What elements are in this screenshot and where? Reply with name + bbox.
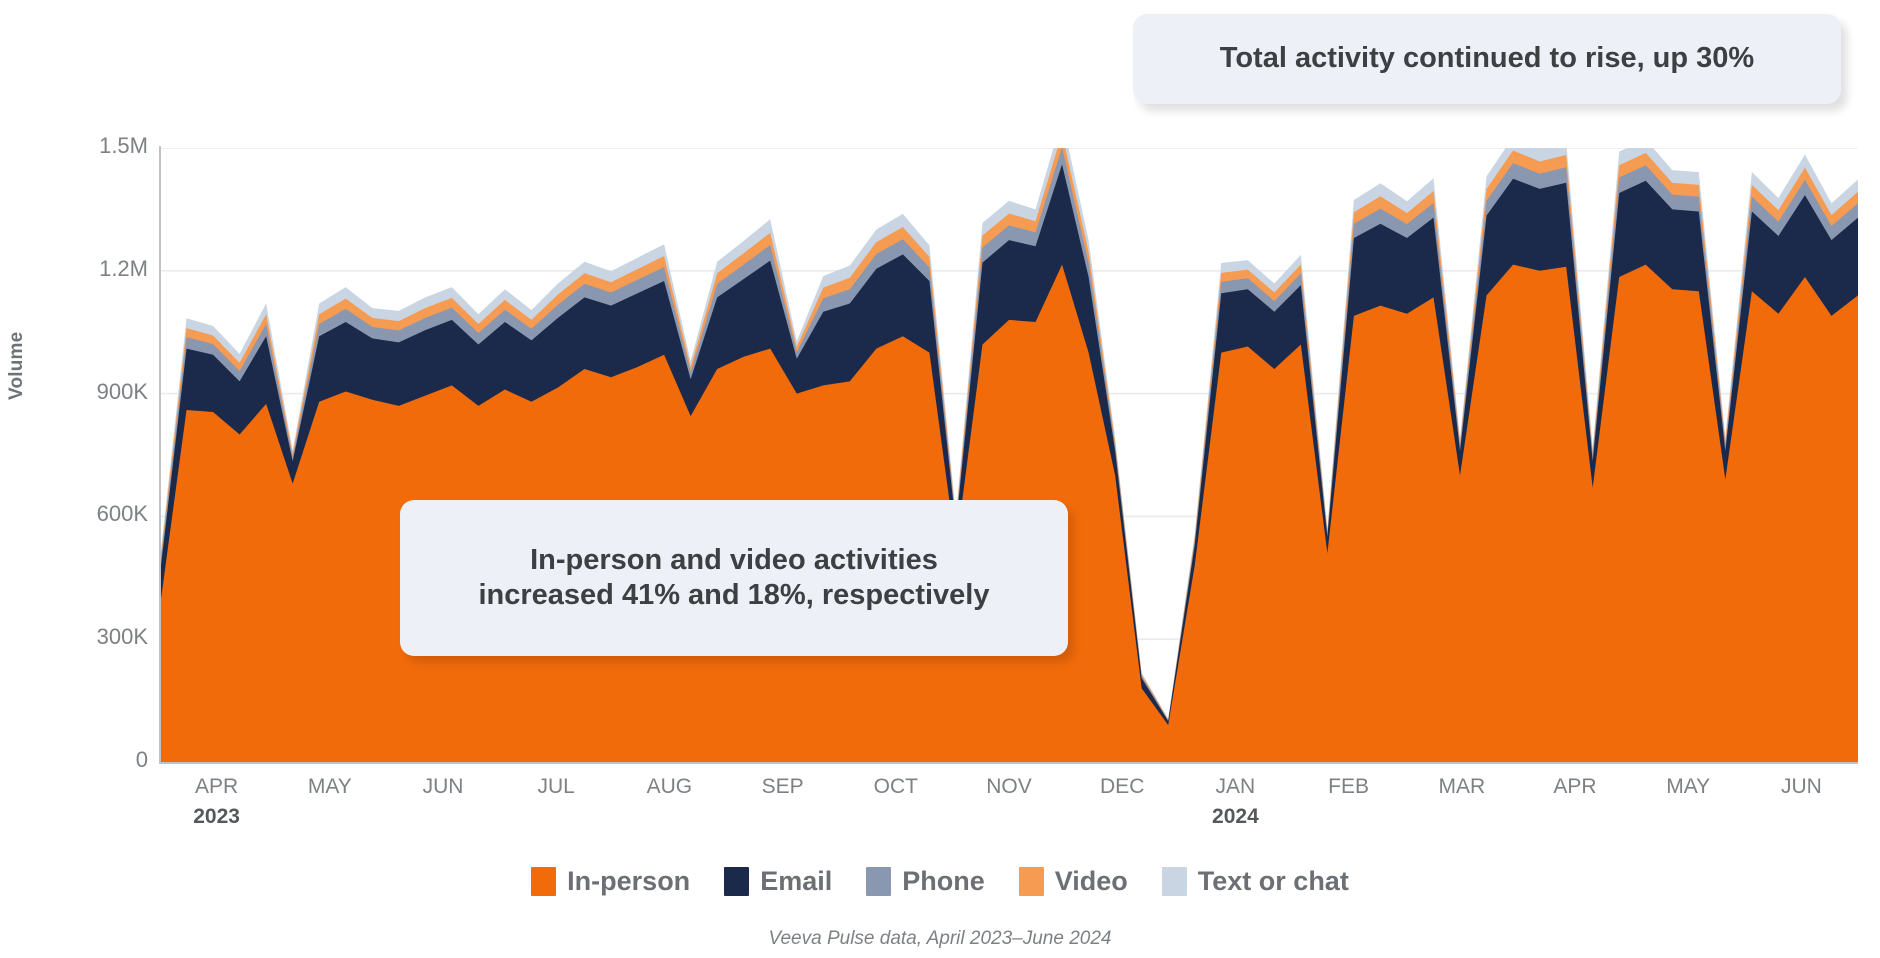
callout-total-activity-text: Total activity continued to rise, up 30% xyxy=(1220,41,1754,76)
legend-label: Video xyxy=(1055,866,1128,897)
x-axis-month-label: AUG xyxy=(647,775,693,799)
chart-legend: In-personEmailPhoneVideoText or chat xyxy=(0,866,1880,897)
callout-inperson-video-text: In-person and video activities increased… xyxy=(478,543,989,614)
x-axis-month-label: FEB xyxy=(1328,775,1369,799)
y-axis-title: Volume xyxy=(6,332,28,400)
x-axis-month-label: JUN xyxy=(423,775,464,799)
x-axis-month-label: JUN xyxy=(1781,775,1822,799)
y-axis-tick-label: 1.2M xyxy=(48,256,148,282)
x-axis-month-label: DEC xyxy=(1100,775,1144,799)
x-axis-month-label: JAN xyxy=(1216,775,1256,799)
legend-item-video[interactable]: Video xyxy=(1019,866,1128,897)
legend-item-email[interactable]: Email xyxy=(724,866,832,897)
legend-swatch-icon xyxy=(1162,867,1187,896)
legend-item-text-or-chat[interactable]: Text or chat xyxy=(1162,866,1349,897)
y-axis-line xyxy=(159,146,161,764)
x-axis-month-label: APR xyxy=(195,775,238,799)
y-axis-tick-label: 1.5M xyxy=(48,133,148,159)
legend-label: Email xyxy=(760,866,832,897)
legend-item-in-person[interactable]: In-person xyxy=(531,866,690,897)
legend-swatch-icon xyxy=(531,867,556,896)
callout-line-1: In-person and video activities xyxy=(478,543,989,578)
legend-label: Phone xyxy=(902,866,985,897)
legend-swatch-icon xyxy=(724,867,749,896)
chart-canvas: Volume 0300K600K900K1.2M1.5M APR2023MAYJ… xyxy=(0,0,1880,958)
x-axis-month-label: MAY xyxy=(1666,775,1710,799)
legend-swatch-icon xyxy=(1019,867,1044,896)
callout-inperson-video: In-person and video activities increased… xyxy=(400,500,1068,656)
x-axis-year-label: 2023 xyxy=(193,805,240,829)
y-axis-tick-label: 600K xyxy=(48,501,148,527)
legend-swatch-icon xyxy=(866,867,891,896)
x-axis-month-label: NOV xyxy=(986,775,1032,799)
stacked-area-chart xyxy=(160,148,1858,762)
chart-source-note: Veeva Pulse data, April 2023–June 2024 xyxy=(0,928,1880,950)
callout-total-activity: Total activity continued to rise, up 30% xyxy=(1133,14,1841,104)
x-axis-ticks: APR2023MAYJUNJULAUGSEPOCTNOVDECJAN2024FE… xyxy=(160,775,1858,845)
x-axis-line xyxy=(159,762,1858,764)
x-axis-month-label: SEP xyxy=(762,775,804,799)
y-axis-tick-label: 300K xyxy=(48,624,148,650)
plot-area xyxy=(160,148,1858,762)
x-axis-month-label: OCT xyxy=(874,775,918,799)
x-axis-month-label: APR xyxy=(1553,775,1596,799)
y-axis-tick-label: 0 xyxy=(48,747,148,773)
y-axis-ticks: 0300K600K900K1.2M1.5M xyxy=(40,0,148,958)
callout-line-2: increased 41% and 18%, respectively xyxy=(478,578,989,613)
legend-label: In-person xyxy=(567,866,690,897)
x-axis-month-label: JUL xyxy=(538,775,575,799)
legend-label: Text or chat xyxy=(1198,866,1349,897)
x-axis-year-label: 2024 xyxy=(1212,805,1259,829)
legend-item-phone[interactable]: Phone xyxy=(866,866,985,897)
y-axis-tick-label: 900K xyxy=(48,379,148,405)
x-axis-month-label: MAR xyxy=(1438,775,1485,799)
x-axis-month-label: MAY xyxy=(308,775,352,799)
